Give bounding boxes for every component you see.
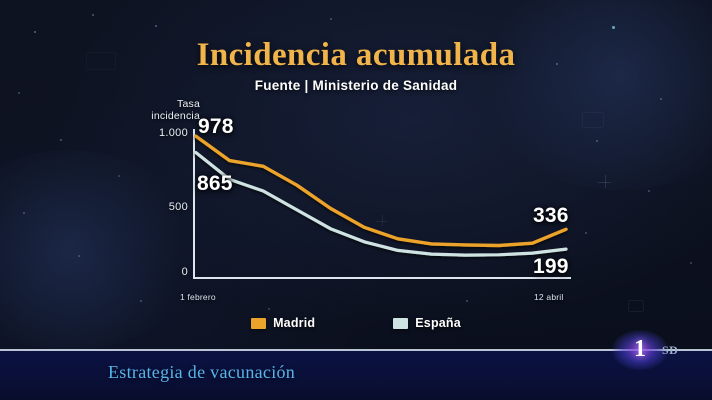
broadcast-graphic: Incidencia acumulada Fuente | Ministerio… [0,0,712,400]
data-label-espana-end: 199 [533,255,569,279]
plot-area [0,0,712,400]
data-label-madrid-start: 978 [198,115,234,139]
lower-third-bar: Estrategia de vacunación [0,349,712,400]
legend-swatch-espana [393,318,408,329]
legend-label-madrid: Madrid [273,316,315,330]
legend-item-espana[interactable]: España [393,316,461,330]
lower-third-headline: Estrategia de vacunación [108,362,295,383]
logo-quality-label: SD [662,343,678,358]
legend-item-madrid[interactable]: Madrid [251,316,315,330]
chart-legend: Madrid España [0,316,712,330]
legend-label-espana: España [415,316,461,330]
series-line-madrid [196,136,566,245]
incidence-line-chart: Tasa incidencia 1.000 500 0 1 febrero 12… [0,0,712,400]
legend-swatch-madrid [251,318,266,329]
data-label-madrid-end: 336 [533,204,569,228]
data-label-espana-start: 865 [197,172,233,196]
channel-logo: 1 SD [612,330,702,370]
logo-channel-number: 1 [629,336,651,363]
series-line-espana [196,153,566,256]
axis-lines [194,130,570,278]
